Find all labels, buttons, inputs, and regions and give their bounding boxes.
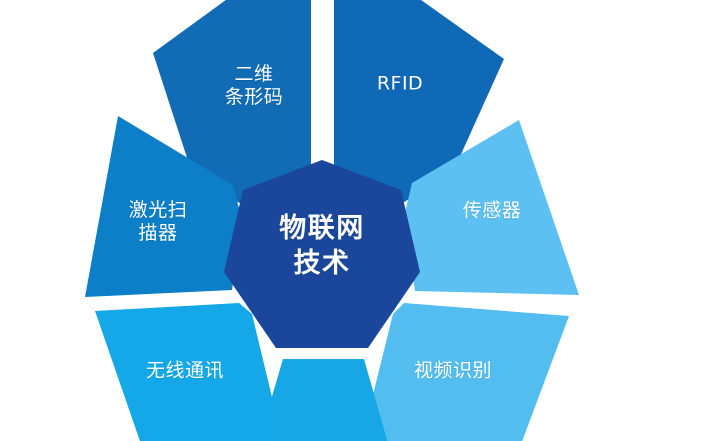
hub-heptagon[interactable] bbox=[224, 160, 420, 348]
diagram-canvas: 二维 条形码 RFID 传感器 视频识别 无线通讯 激光扫 描器 物联网 技术 bbox=[0, 0, 707, 441]
petal-wireless-communication[interactable] bbox=[95, 303, 284, 441]
petal-video-recognition[interactable] bbox=[360, 303, 569, 441]
radial-petal-wheel bbox=[0, 0, 707, 441]
